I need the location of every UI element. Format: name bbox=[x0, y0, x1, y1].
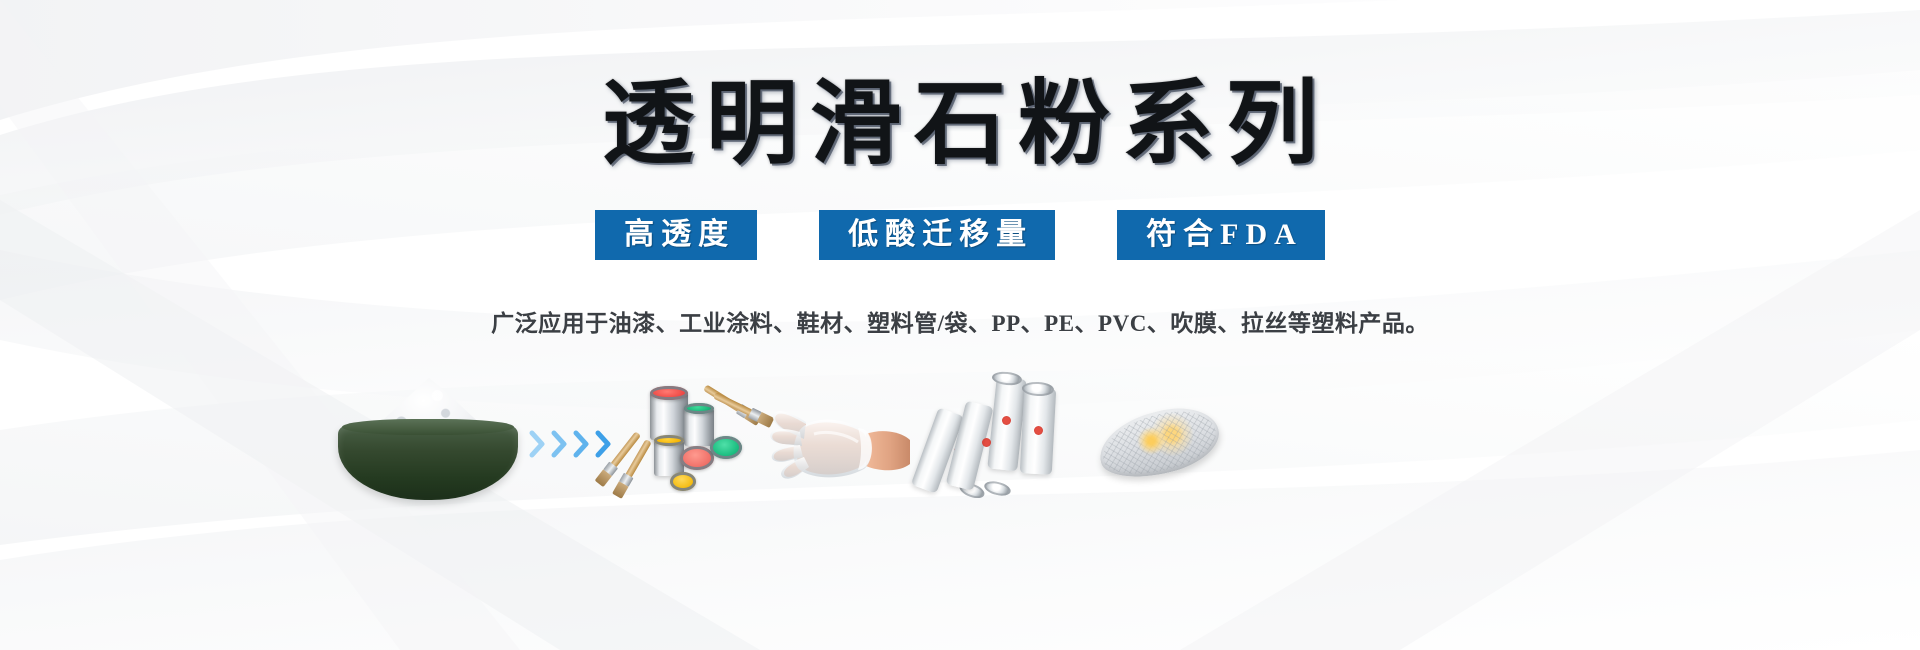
shoe-sole-image bbox=[1098, 400, 1220, 492]
badge-low-acid-migration[interactable]: 低酸迁移量 bbox=[819, 210, 1055, 260]
paint-lid-yellow-loose bbox=[670, 472, 696, 491]
application-subtitle: 广泛应用于油漆、工业涂料、鞋材、塑料管/袋、PP、PE、PVC、吹膜、拉丝等塑料… bbox=[491, 304, 1429, 338]
green-bowl bbox=[338, 424, 518, 500]
chevron-right-icon bbox=[550, 429, 570, 459]
paint-cans-image bbox=[636, 386, 746, 504]
paint-lid-green-loose bbox=[710, 436, 742, 459]
paint-lid-yellow bbox=[654, 435, 684, 446]
plastic-glove-hand-image bbox=[770, 398, 910, 502]
product-image-strip bbox=[0, 356, 1920, 506]
paint-lid-red bbox=[650, 386, 688, 400]
film-roll-sticker bbox=[1002, 416, 1011, 425]
paint-lid-green bbox=[684, 403, 714, 414]
feature-badge-group: 高透度 低酸迁移量 符合FDA bbox=[595, 210, 1325, 260]
paint-lid-pink bbox=[680, 446, 714, 470]
chevron-right-icon bbox=[572, 429, 592, 459]
badge-fda-compliant[interactable]: 符合FDA bbox=[1117, 210, 1325, 260]
banner-content: 透明滑石粉系列 高透度 低酸迁移量 符合FDA 广泛应用于油漆、工业涂料、鞋材、… bbox=[0, 0, 1920, 650]
talc-powder-bowl-image bbox=[338, 380, 518, 500]
chevron-right-icon bbox=[528, 429, 548, 459]
badge-high-transparency[interactable]: 高透度 bbox=[595, 210, 757, 260]
shoe-sole-shape bbox=[1092, 398, 1225, 488]
chevron-right-icon bbox=[594, 429, 614, 459]
film-roll-sticker bbox=[1034, 426, 1043, 435]
film-roll-core bbox=[983, 479, 1012, 498]
plastic-film-rolls-image bbox=[936, 382, 1066, 504]
page-title: 透明滑石粉系列 bbox=[590, 78, 1330, 170]
flow-arrows-group bbox=[528, 426, 620, 462]
film-roll-sticker bbox=[982, 438, 991, 447]
product-banner: 透明滑石粉系列 高透度 低酸迁移量 符合FDA 广泛应用于油漆、工业涂料、鞋材、… bbox=[0, 0, 1920, 650]
